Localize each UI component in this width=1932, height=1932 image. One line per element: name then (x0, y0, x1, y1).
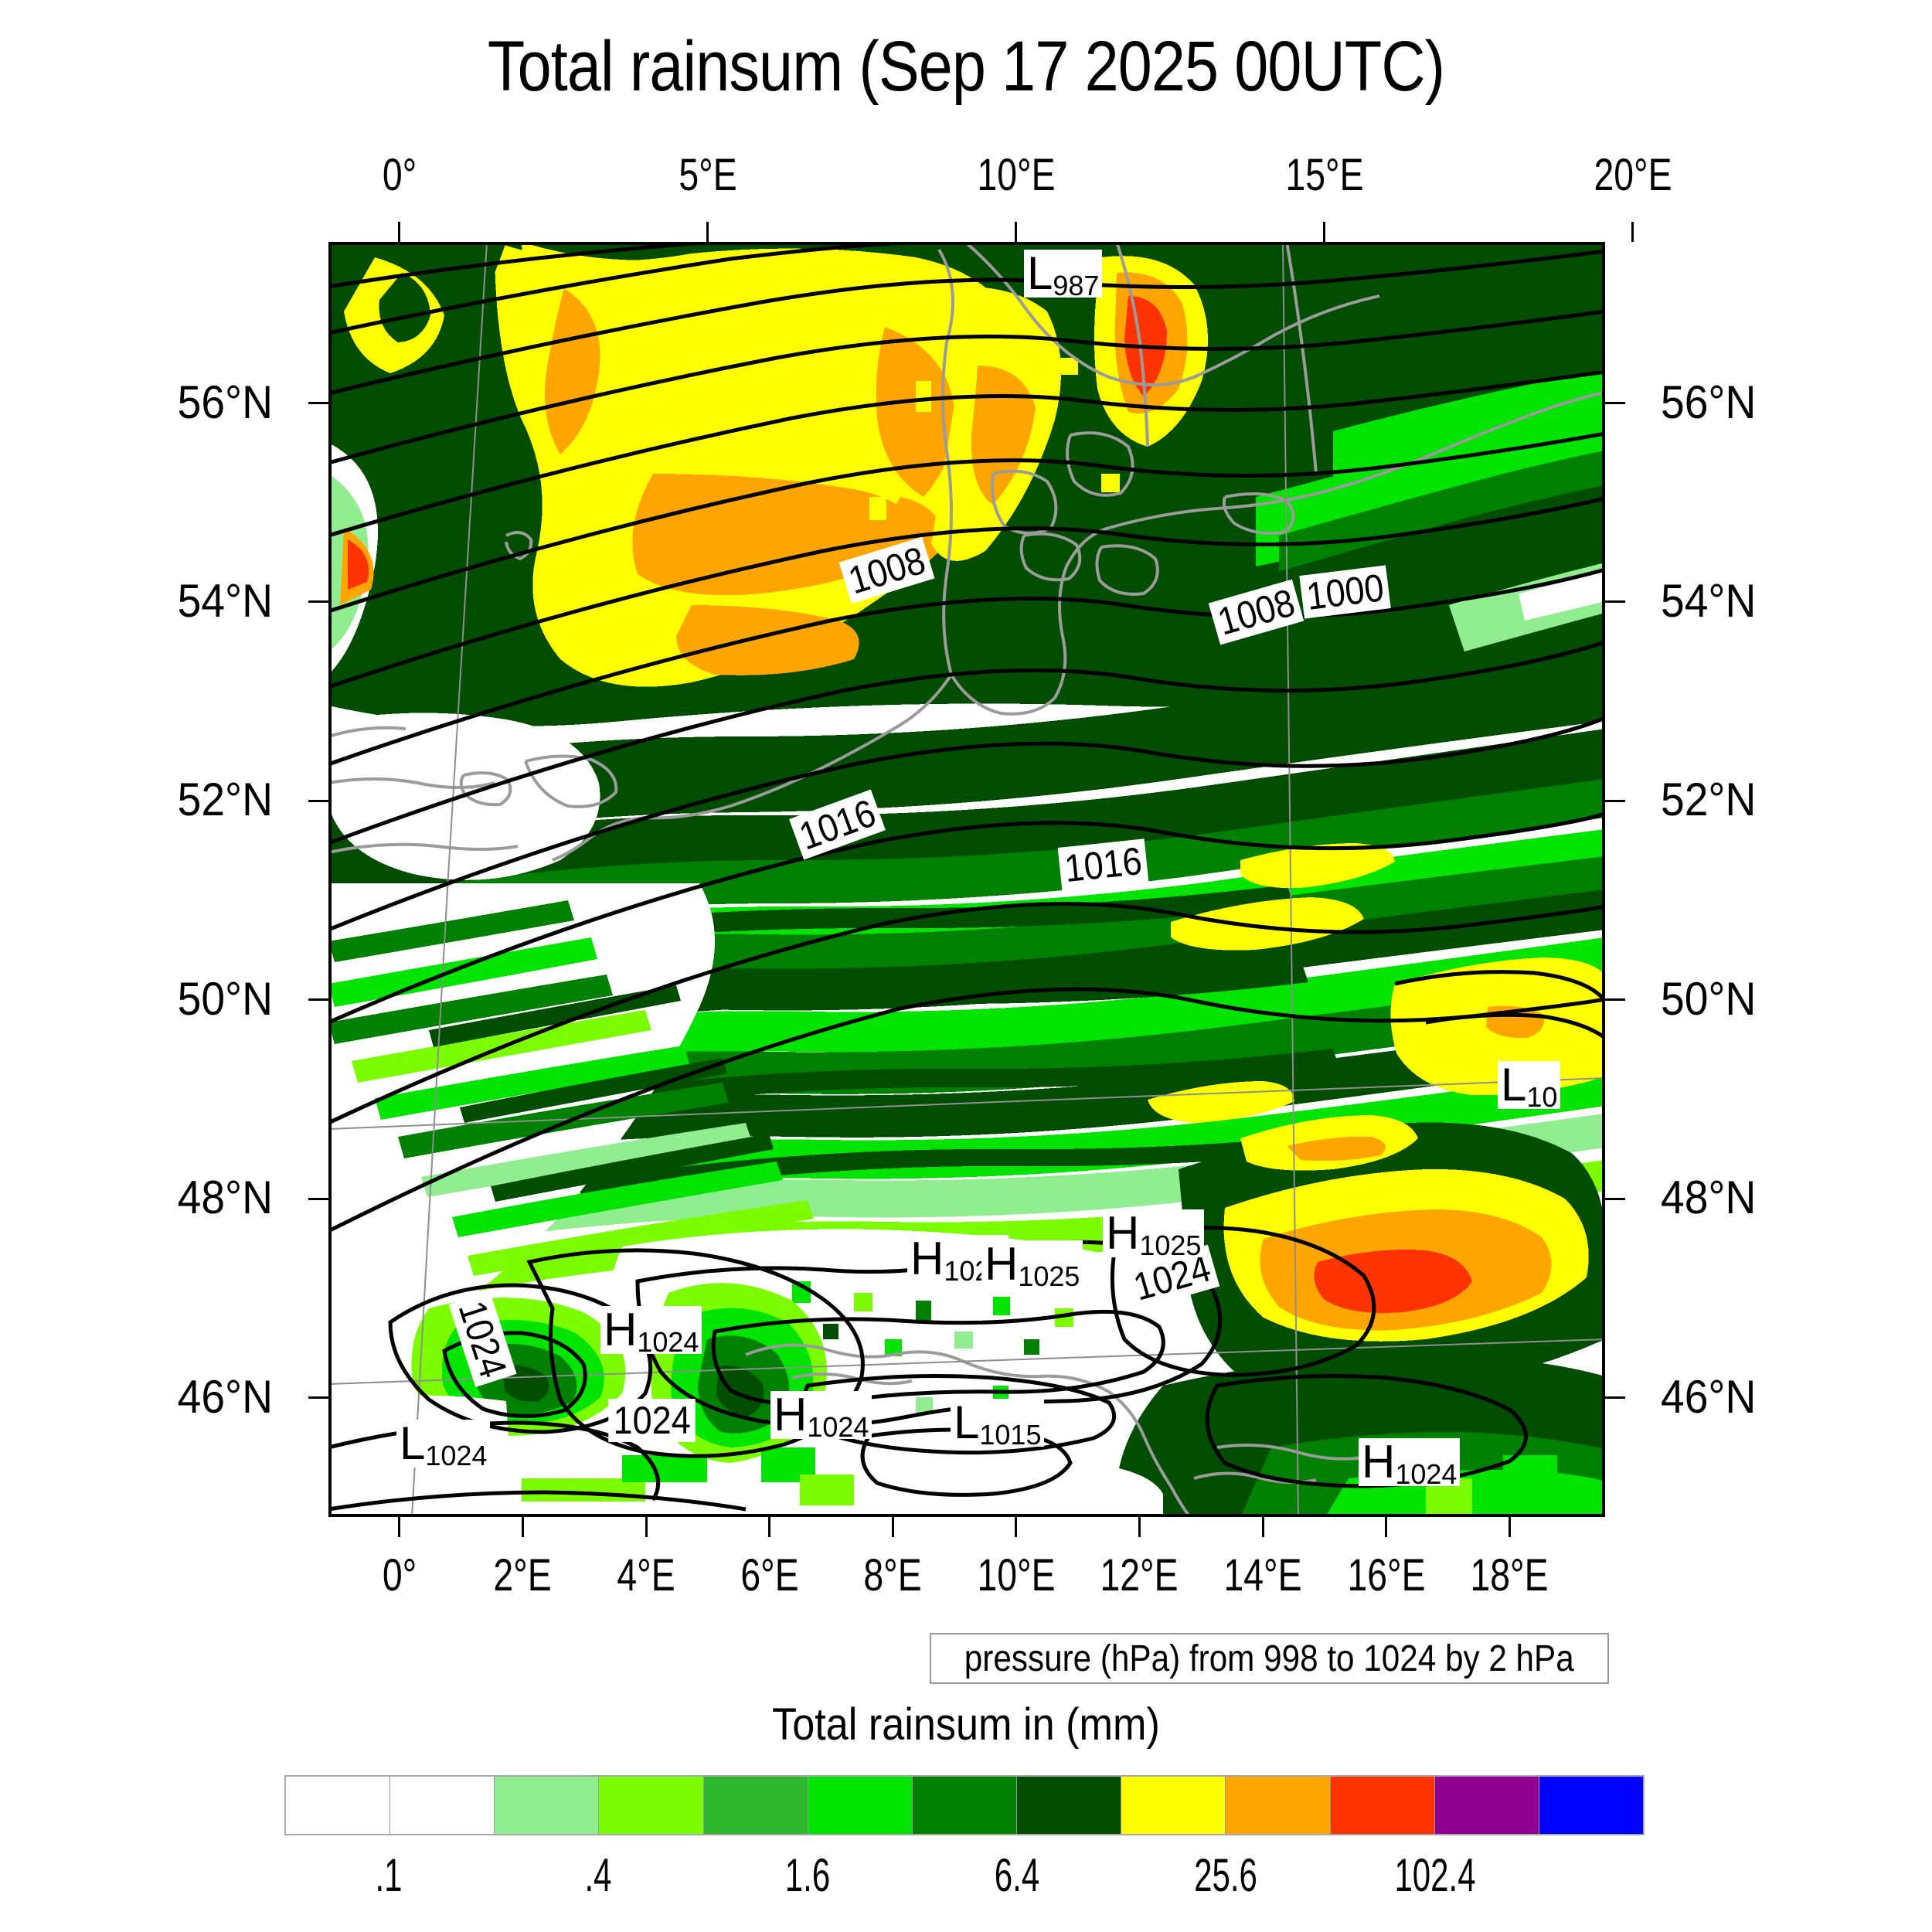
left-axis-label-4: 48°N (60, 1171, 273, 1224)
left-axis-label-0: 56°N (60, 376, 273, 429)
tick-bottom-0 (398, 1517, 400, 1537)
tick-bottom-2 (645, 1517, 648, 1537)
left-axis-label-1: 54°N (60, 574, 273, 628)
top-axis-label-0: 0° (319, 149, 480, 201)
tick-top-1 (706, 222, 709, 242)
colorbar-cell-7 (1017, 1777, 1121, 1834)
tick-top-4 (1631, 222, 1634, 242)
top-axis-label-2: 10°E (936, 149, 1097, 201)
right-axis-label-2: 52°N (1661, 773, 1874, 826)
weather-map-page: Total rainsum (Sep 17 2025 00UTC) (0, 0, 1932, 1932)
colorbar-cell-3 (599, 1777, 703, 1834)
colorbar-title: Total rainsum in (mm) (97, 1699, 1835, 1750)
colorbar-cell-2 (495, 1777, 599, 1834)
right-axis-label-1: 54°N (1661, 574, 1874, 628)
tick-bottom-1 (522, 1517, 524, 1537)
map-panel: 10081008101610161000102410241024 L987L10… (328, 242, 1605, 1517)
colorbar-cell-1 (390, 1777, 495, 1834)
tick-left-4 (308, 1198, 328, 1200)
tick-left-2 (308, 800, 328, 802)
tick-right-1 (1605, 600, 1625, 603)
colorbar-cell-0 (286, 1777, 390, 1834)
colorbar-cell-10 (1331, 1777, 1435, 1834)
pressure-high-marker-9: H1024 (1359, 1438, 1460, 1486)
colorbar-labels: .1.41.66.425.6102.4 (284, 1849, 1645, 1910)
contour-label-1024-7: 1024 (608, 1399, 696, 1442)
pressure-high-marker-6: H1024 (770, 1391, 872, 1439)
colorbar-tick-label-2: 1.6 (748, 1849, 867, 1902)
colorbar-tick-label-0: .1 (329, 1849, 448, 1902)
pressure-low-marker-8: L1024 (396, 1420, 490, 1468)
tick-right-3 (1605, 998, 1625, 1001)
map-content (328, 242, 1605, 1517)
tick-left-3 (308, 998, 328, 1001)
colorbar-cell-12 (1539, 1777, 1643, 1834)
tick-top-0 (398, 222, 400, 242)
colorbar-tick-label-3: 6.4 (957, 1849, 1077, 1902)
bottom-axis-label-9: 18°E (1429, 1549, 1590, 1601)
colorbar-cell-8 (1121, 1777, 1226, 1834)
tick-right-0 (1605, 402, 1625, 404)
colorbar-tick-label-1: .4 (539, 1849, 658, 1902)
tick-bottom-4 (892, 1517, 894, 1537)
tick-right-2 (1605, 800, 1625, 802)
colorbar-cell-6 (913, 1777, 1017, 1834)
tick-top-3 (1323, 222, 1325, 242)
tick-bottom-8 (1385, 1517, 1387, 1537)
tick-bottom-6 (1138, 1517, 1141, 1537)
pressure-low-marker-0: L987 (1024, 250, 1102, 298)
page-title: Total rainsum (Sep 17 2025 00UTC) (135, 26, 1797, 107)
left-axis-label-3: 50°N (60, 972, 273, 1026)
map-svg (328, 242, 1605, 1517)
pressure-legend-box: pressure (hPa) from 998 to 1024 by 2 hPa (930, 1633, 1609, 1684)
right-axis-label-3: 50°N (1661, 972, 1874, 1026)
tick-left-0 (308, 402, 328, 404)
colorbar-cell-11 (1435, 1777, 1539, 1834)
tick-right-5 (1605, 1396, 1625, 1399)
right-axis-label-0: 56°N (1661, 376, 1874, 429)
left-axis-label-5: 46°N (60, 1370, 273, 1423)
top-axis-label-3: 15°E (1244, 149, 1405, 201)
colorbar-cell-4 (704, 1777, 808, 1834)
pressure-low-marker-1: L10 (1498, 1061, 1560, 1109)
pressure-legend-text: pressure (hPa) from 998 to 1024 by 2 hPa (964, 1638, 1574, 1680)
pressure-low-marker-7: L1015 (951, 1399, 1044, 1447)
pressure-high-marker-2: H1025 (1103, 1209, 1204, 1257)
top-axis-label-1: 5°E (628, 149, 788, 201)
tick-left-5 (308, 1396, 328, 1399)
colorbar-tick-label-4: 25.6 (1166, 1849, 1285, 1902)
colorbar-cell-9 (1226, 1777, 1330, 1834)
tick-bottom-3 (768, 1517, 770, 1537)
pressure-high-marker-4: H1025 (981, 1240, 1083, 1288)
right-axis-label-4: 48°N (1661, 1171, 1874, 1224)
contour-label-1016-3: 1016 (1058, 838, 1149, 890)
tick-bottom-5 (1015, 1517, 1017, 1537)
right-axis-label-5: 46°N (1661, 1370, 1874, 1423)
tick-right-4 (1605, 1198, 1625, 1200)
colorbar-tick-label-5: 102.4 (1376, 1849, 1495, 1902)
precipitation-field (328, 242, 1605, 1517)
pressure-high-marker-5: H1024 (600, 1306, 702, 1354)
tick-bottom-9 (1509, 1517, 1511, 1537)
colorbar-cell-5 (808, 1777, 913, 1834)
left-axis-label-2: 52°N (60, 773, 273, 826)
tick-left-1 (308, 600, 328, 603)
tick-bottom-7 (1262, 1517, 1264, 1537)
tick-top-2 (1015, 222, 1017, 242)
colorbar (284, 1775, 1645, 1835)
top-axis-label-4: 20°E (1553, 149, 1713, 201)
